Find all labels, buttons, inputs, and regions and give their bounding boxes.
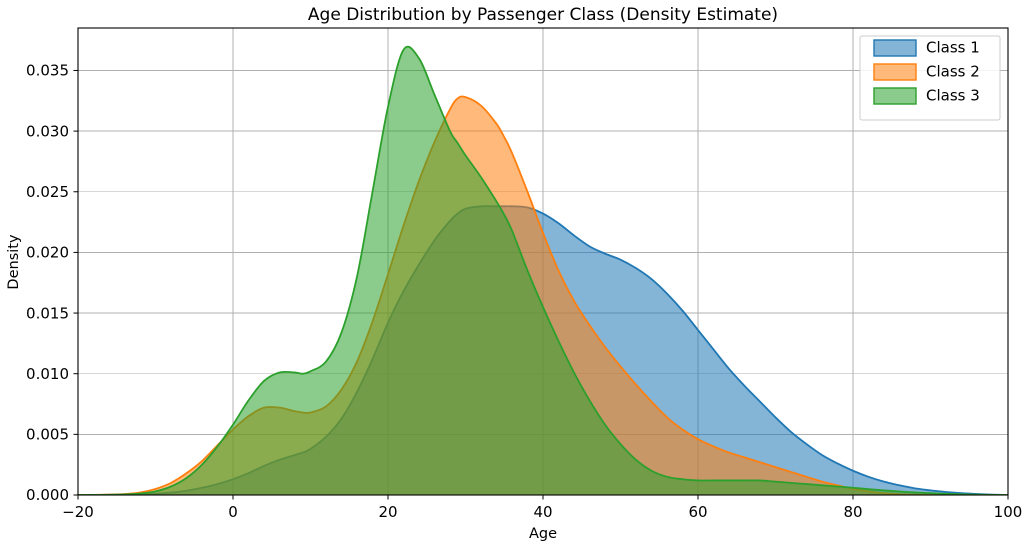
x-tick-label: 100: [994, 503, 1023, 521]
x-tick-label: −20: [62, 503, 94, 521]
legend-label-3: Class 3: [926, 87, 980, 105]
y-tick-label: 0.000: [26, 486, 69, 504]
legend-label-1: Class 1: [926, 39, 980, 57]
y-tick-label: 0.030: [26, 122, 69, 140]
x-tick-label: 20: [378, 503, 397, 521]
y-tick-label: 0.020: [26, 244, 69, 262]
y-tick-label: 0.015: [26, 304, 69, 322]
x-tick-label: 0: [228, 503, 238, 521]
y-tick-label: 0.025: [26, 183, 69, 201]
legend[interactable]: Class 1Class 2Class 3: [860, 36, 1000, 120]
y-tick-label: 0.035: [26, 62, 69, 80]
legend-swatch-3: [874, 88, 916, 104]
y-tick-label: 0.010: [26, 365, 69, 383]
density-plot: −200204060801000.0000.0050.0100.0150.020…: [0, 0, 1023, 545]
chart-title: Age Distribution by Passenger Class (Den…: [308, 5, 778, 25]
legend-label-2: Class 2: [926, 63, 980, 81]
legend-swatch-1: [874, 40, 916, 56]
x-tick-label: 80: [843, 503, 862, 521]
chart-figure: −200204060801000.0000.0050.0100.0150.020…: [0, 0, 1023, 545]
legend-swatch-2: [874, 64, 916, 80]
x-axis-label: Age: [529, 526, 557, 542]
y-tick-label: 0.005: [26, 426, 69, 444]
y-axis-label: Density: [6, 234, 22, 290]
x-tick-label: 40: [533, 503, 552, 521]
x-tick-label: 60: [688, 503, 707, 521]
